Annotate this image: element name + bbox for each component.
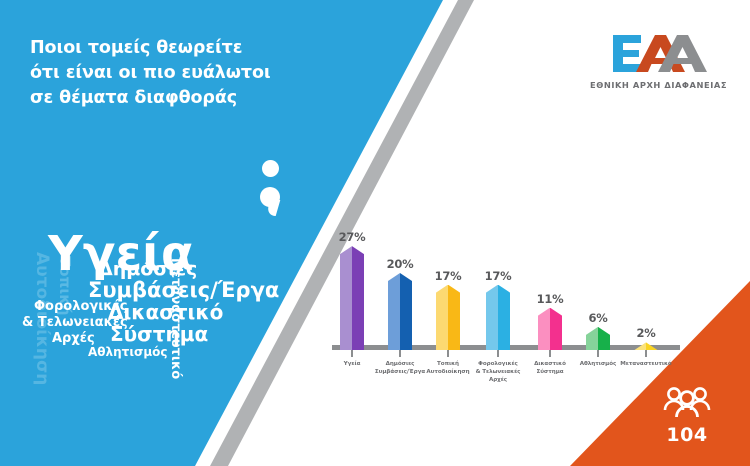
question-mark-dot: [262, 160, 279, 177]
word-cloud: Τοπική Αυτοδιοίκηση Υγεία Δημόσιες Συμβά…: [10, 222, 260, 357]
title-line-1: Ποιοι τομείς θεωρείτε: [30, 36, 290, 61]
axis-category-label-line: Σύστημα: [524, 368, 576, 376]
infographic-canvas: Ποιοι τομείς θεωρείτε ότι είναι οι πιο ε…: [0, 0, 750, 466]
axis-category-label: ΔικαστικόΣύστημα: [524, 360, 576, 376]
bar-chart: 27%20%17%17%11%6%2% ΥγείαΔημόσιεςΣυμβάσε…: [330, 196, 710, 396]
respondent-count-badge: 104: [650, 385, 724, 446]
organization-logo: ΕΘΝΙΚΗ ΑΡΧΗ ΔΙΑΦΑΝΕΙΑΣ: [590, 33, 727, 90]
axis-tick: [399, 350, 401, 357]
bar-value-label: 2%: [622, 326, 670, 340]
bar-group: 17%: [474, 269, 522, 350]
title-line-2: ότι είναι οι πιο ευάλωτοι: [30, 61, 290, 86]
bar-group: 2%: [622, 326, 670, 350]
people-group-icon: [663, 385, 711, 419]
bar-shape: [538, 308, 562, 350]
bar-value-label: 17%: [424, 269, 472, 283]
bar-shape: [634, 342, 658, 350]
axis-category-label-line: & Τελωνειακές: [472, 368, 524, 376]
bar-value-label: 20%: [376, 257, 424, 271]
bar-face-dark: [646, 342, 658, 350]
bar-shape: [388, 273, 412, 350]
word-cloud-forologikes: Φορολογικές: [34, 300, 127, 313]
bar-face-dark: [598, 327, 610, 350]
axis-category-label: ΔημόσιεςΣυμβάσεις/Έργα: [374, 360, 426, 376]
bar-group: 27%: [328, 230, 376, 350]
bar-face-dark: [498, 285, 510, 350]
bar-face-dark: [550, 308, 562, 350]
axis-category-label-line: Φορολογικές: [472, 360, 524, 368]
axis-category-label-line: Αυτοδιοίκηση: [422, 368, 474, 376]
bar-face-light: [486, 285, 498, 350]
logo-mark: [611, 33, 707, 73]
word-cloud-telwneiakes: & Τελωνειακές: [22, 316, 128, 329]
axis-category-label: Φορολογικές& ΤελωνειακέςΑρχές: [472, 360, 524, 384]
bar-value-label: 17%: [474, 269, 522, 283]
bar-face-light: [586, 327, 598, 350]
bar-face-dark: [352, 246, 364, 350]
axis-category-label: Μεταναστευτικό: [620, 360, 672, 368]
bar-value-label: 27%: [328, 230, 376, 244]
bar-shape: [586, 327, 610, 350]
axis-category-label-line: Αθλητισμός: [572, 360, 624, 368]
bar-face-light: [388, 273, 400, 350]
axis-tick: [597, 350, 599, 357]
bar-face-light: [634, 342, 646, 350]
axis-category-label-line: Συμβάσεις/Έργα: [374, 368, 426, 376]
bar-face-light: [538, 308, 550, 350]
greek-question-mark-icon: [258, 160, 292, 222]
bar-group: 17%: [424, 269, 472, 350]
axis-tick: [549, 350, 551, 357]
axis-category-label-line: Αρχές: [472, 376, 524, 384]
logo-eaa-glyph: [611, 33, 707, 73]
bar-group: 6%: [574, 311, 622, 350]
word-cloud-metanastevtiko: Μεταναστευτικό: [169, 258, 182, 379]
axis-tick: [351, 350, 353, 357]
bar-shape: [436, 285, 460, 350]
title-line-3: σε θέματα διαφθοράς: [30, 86, 290, 111]
bar-group: 20%: [376, 257, 424, 350]
bar-value-label: 6%: [574, 311, 622, 325]
bar-face-light: [340, 246, 352, 350]
axis-category-label-line: Δημόσιες: [374, 360, 426, 368]
word-cloud-athlitismos: Αθλητισμός: [88, 346, 168, 358]
bar-face-light: [436, 285, 448, 350]
bar-value-label: 11%: [526, 292, 574, 306]
axis-category-label: Αθλητισμός: [572, 360, 624, 368]
axis-category-label-line: Δικαστικό: [524, 360, 576, 368]
bar-group: 11%: [526, 292, 574, 350]
axis-category-label: Υγεία: [326, 360, 378, 368]
page-title: Ποιοι τομείς θεωρείτε ότι είναι οι πιο ε…: [30, 36, 290, 111]
bar-face-dark: [448, 285, 460, 350]
axis-category-label-line: Μεταναστευτικό: [620, 360, 672, 368]
logo-subtitle: ΕΘΝΙΚΗ ΑΡΧΗ ΔΙΑΦΑΝΕΙΑΣ: [590, 80, 727, 90]
axis-tick: [497, 350, 499, 357]
axis-category-label-line: Τοπική: [422, 360, 474, 368]
bar-face-dark: [400, 273, 412, 350]
axis-tick: [447, 350, 449, 357]
bar-shape: [486, 285, 510, 350]
bar-shape: [340, 246, 364, 350]
axis-tick: [645, 350, 647, 357]
word-cloud-arxes: Αρχές: [52, 332, 95, 345]
axis-category-label: ΤοπικήΑυτοδιοίκηση: [422, 360, 474, 376]
axis-category-label-line: Υγεία: [326, 360, 378, 368]
respondent-count: 104: [650, 424, 724, 446]
word-cloud-symvaseis: Συμβάσεις/Έργα: [88, 280, 279, 301]
